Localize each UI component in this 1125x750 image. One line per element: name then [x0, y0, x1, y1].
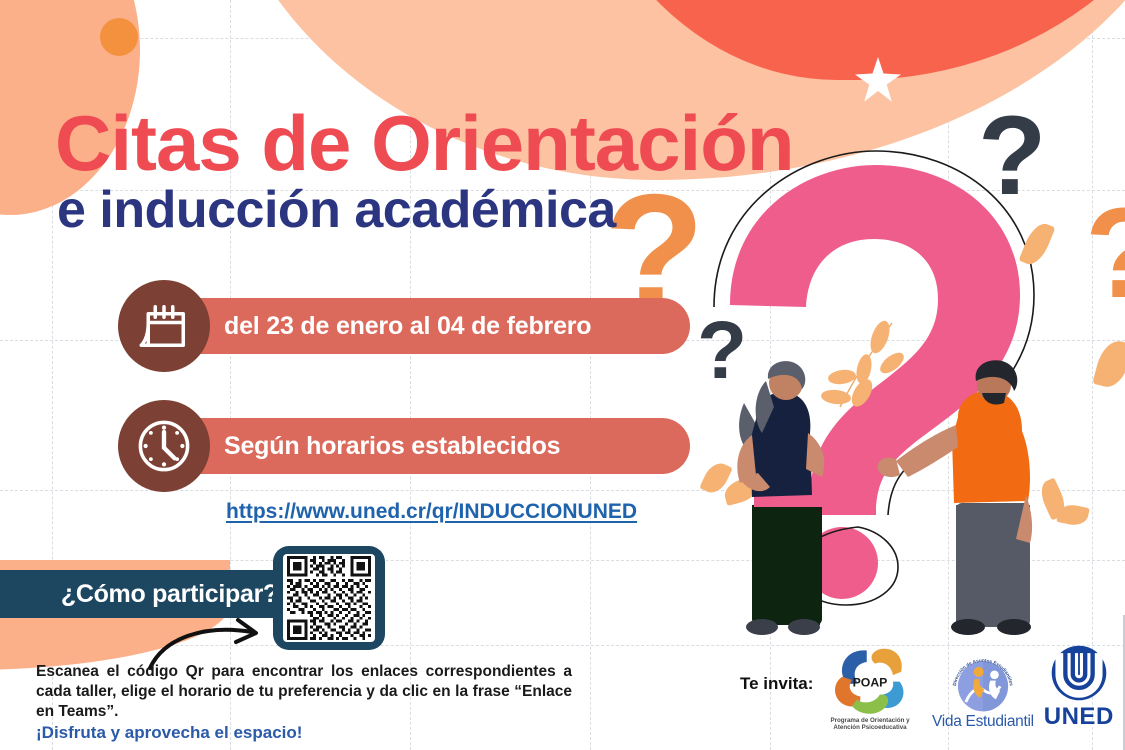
how-to-participate-banner: ¿Cómo participar? [0, 570, 300, 618]
poap-caption-line1: Programa de Orientación y [818, 717, 922, 724]
instructions-paragraph: Escanea el código Qr para encontrar los … [36, 662, 572, 721]
question-mark-icon: ? [978, 100, 1046, 212]
page-title: Citas de Orientación [55, 98, 794, 189]
clock-icon [118, 400, 210, 492]
invite-label: Te invita: [740, 674, 813, 694]
how-to-participate-label: ¿Cómo participar? [61, 580, 278, 609]
registration-link[interactable]: https://www.uned.cr/qr/INDUCCIONUNED [226, 500, 637, 524]
person-right [878, 360, 1032, 635]
instructions-highlight: ¡Disfruta y aprovecha el espacio! [36, 722, 572, 744]
qr-code-image [283, 554, 375, 642]
svg-text:POAP: POAP [853, 676, 888, 690]
petal-shape [1092, 337, 1125, 391]
calendar-icon [118, 280, 210, 372]
info-pill-schedule: Según horarios establecidos [118, 400, 690, 492]
vida-estudiantil-caption: Vida Estudiantil [932, 713, 1034, 731]
poster-canvas: ? ? ? ? [0, 0, 1125, 750]
page-subtitle: e inducción académica [57, 180, 616, 240]
qr-code[interactable] [273, 546, 385, 650]
people-illustration [700, 355, 1080, 645]
instructions-block: Escanea el código Qr para encontrar los … [36, 662, 572, 744]
poap-caption: Programa de Orientación y Atención Psico… [818, 717, 922, 731]
orange-dot-shape [100, 18, 138, 56]
poap-caption-line2: Atención Psicoeducativa [818, 724, 922, 731]
question-mark-icon: ? [1085, 190, 1125, 318]
info-pill-date: del 23 de enero al 04 de febrero [118, 280, 690, 372]
footer-logos: POAP Programa de Orientación y Atención … [818, 644, 1114, 731]
poap-logo: POAP Programa de Orientación y Atención … [818, 644, 922, 731]
uned-logo: UNED [1044, 644, 1114, 731]
vida-estudiantil-logo: Dirección de Asuntos Estudiantiles Vida … [932, 649, 1034, 731]
person-left [737, 361, 824, 635]
uned-caption: UNED [1044, 703, 1114, 731]
